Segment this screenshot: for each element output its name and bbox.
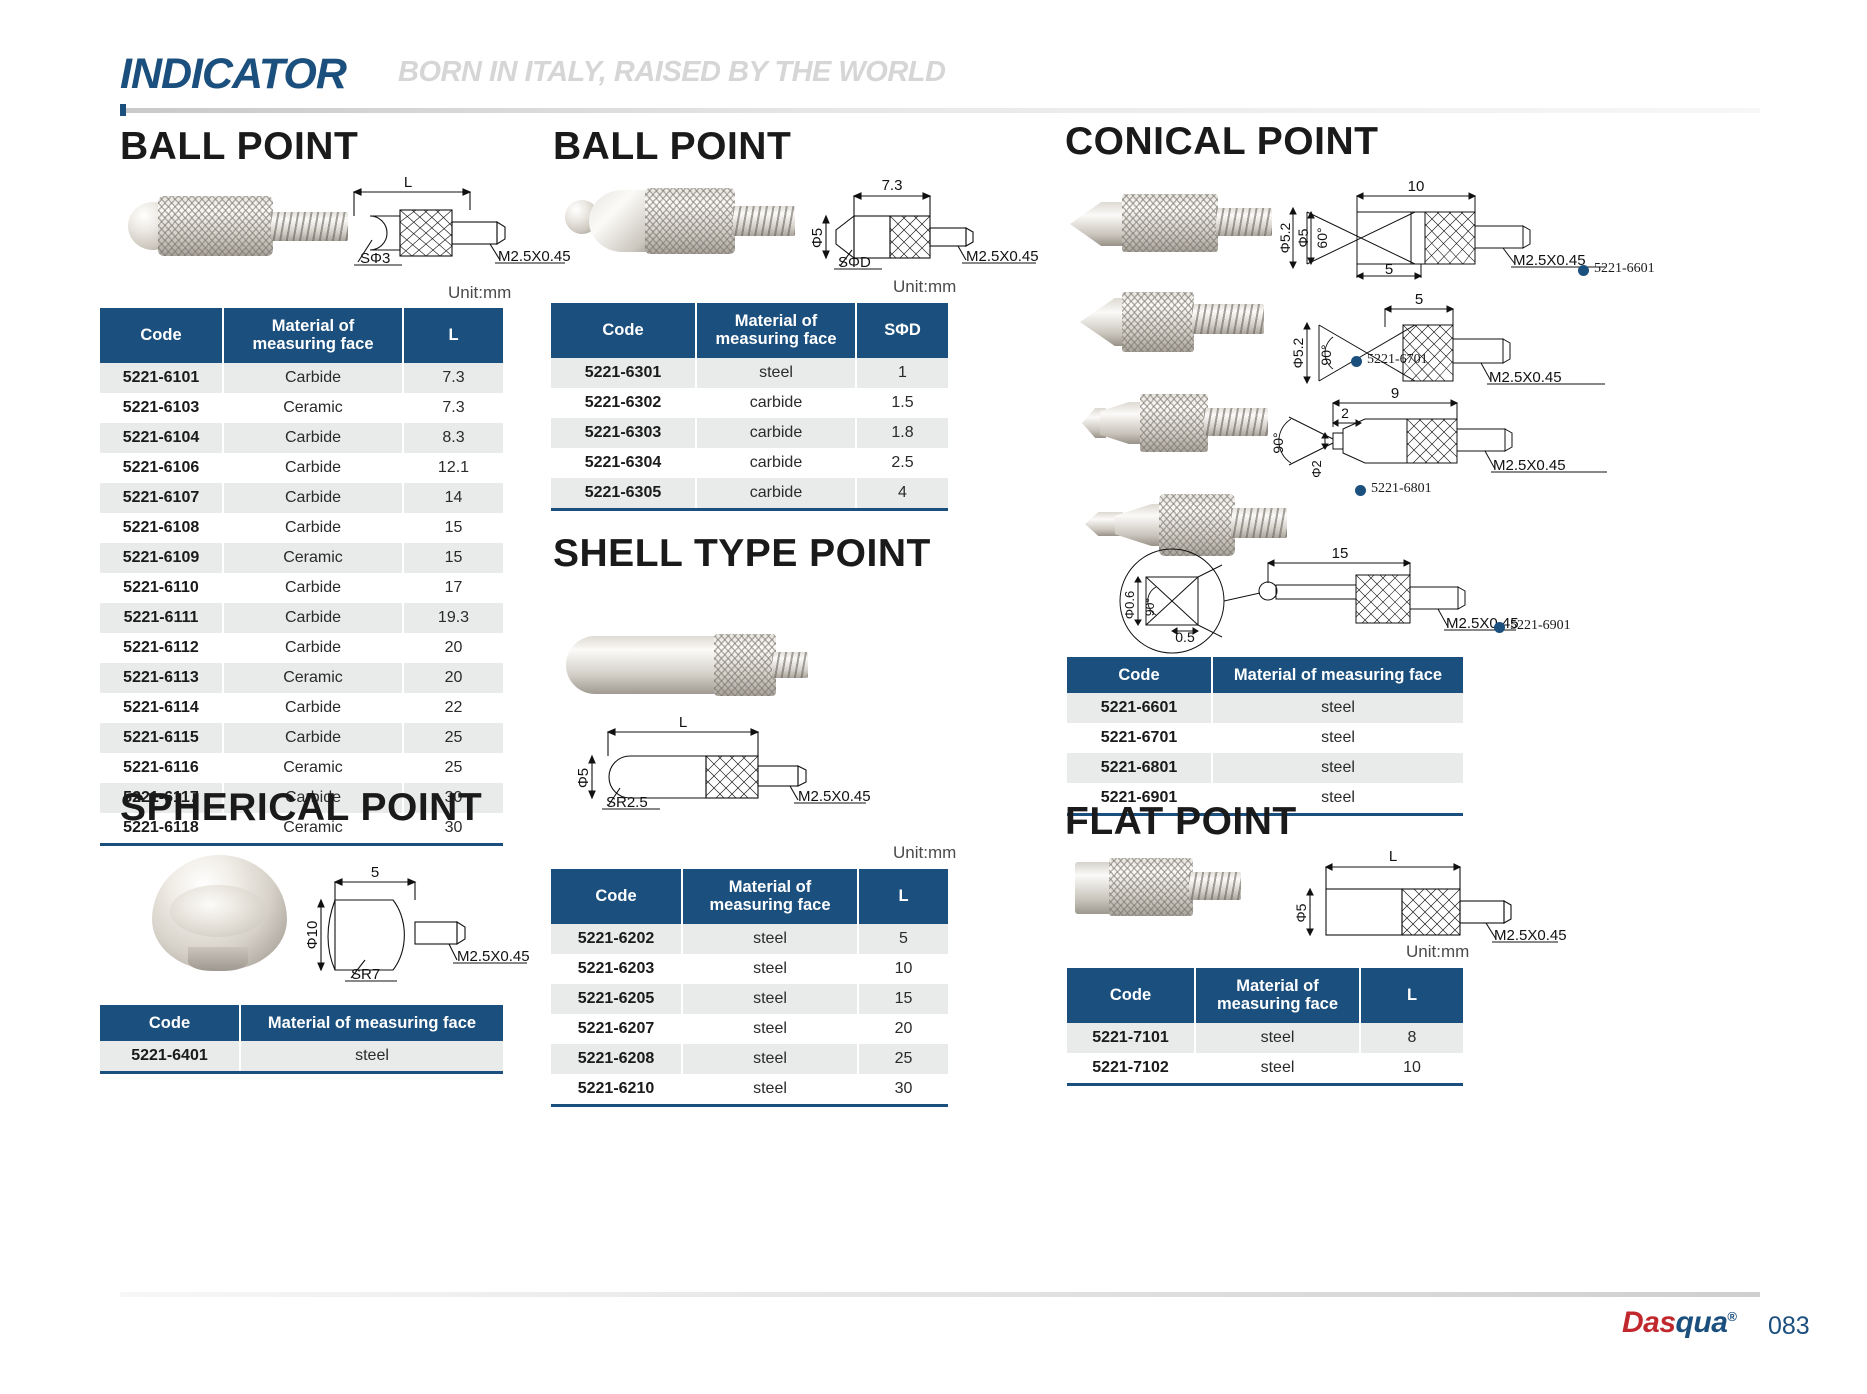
table-flat: Code Material ofmeasuring face L 5221-71… — [1067, 968, 1463, 1086]
code-marker-dot-6701 — [1351, 356, 1362, 367]
cell-material: Carbide — [223, 453, 403, 483]
cell-code: 5221-6207 — [551, 1014, 682, 1044]
drawing-thread-label: M2.5X0.45 — [1446, 615, 1519, 632]
cell-material: steel — [682, 954, 858, 984]
section-title-conical: CONICAL POINT — [1065, 120, 1378, 164]
header-divider — [120, 108, 1760, 113]
drawing-dim-top: 9 — [1391, 385, 1399, 402]
cell-material: steel — [682, 1044, 858, 1074]
technical-drawing-conical-4: 15 Φ0.6 90° 0.5 M2.5X0.45 — [1100, 545, 1520, 655]
table-row: 5221-7102steel10 — [1067, 1053, 1463, 1085]
cell-code: 5221-6301 — [551, 358, 696, 388]
table-body-flat: 5221-7101steel85221-7102steel10 — [1067, 1023, 1463, 1085]
product-photo-conical-1 — [1070, 190, 1270, 258]
col-header-sphere-dia: SΦD — [856, 303, 948, 358]
col-header-code: Code — [100, 308, 223, 363]
cell-material: steel — [240, 1041, 503, 1073]
cell-code: 5221-6115 — [100, 723, 223, 753]
cell-value: 4 — [856, 478, 948, 510]
cell-code: 5221-6106 — [100, 453, 223, 483]
table-row: 5221-6701steel — [1067, 723, 1463, 753]
cell-material: steel — [1212, 693, 1463, 723]
cell-material: Carbide — [223, 363, 403, 393]
col-header-material: Material of measuring face — [1212, 657, 1463, 693]
cell-material: carbide — [696, 388, 856, 418]
cell-code: 5221-6203 — [551, 954, 682, 984]
cell-code: 5221-6208 — [551, 1044, 682, 1074]
cell-material: steel — [682, 1074, 858, 1106]
product-photo-ball-point-2 — [565, 182, 790, 272]
table-row: 5221-6112Carbide20 — [100, 633, 503, 663]
code-marker-dot-6601 — [1578, 265, 1589, 276]
drawing-dim-top: 10 — [1408, 178, 1425, 195]
col-header-code: Code — [1067, 968, 1195, 1023]
product-photo-shell-type — [566, 632, 806, 700]
cell-value: 7.3 — [403, 363, 503, 393]
drawing-dim-top: 15 — [1332, 545, 1349, 562]
section-title-flat: FLAT POINT — [1065, 800, 1297, 844]
table-row: 5221-6304carbide2.5 — [551, 448, 948, 478]
drawing-angle: 90° — [1318, 344, 1334, 365]
col-header-material: Material of measuring face — [240, 1005, 503, 1041]
table-row: 5221-6203steel10 — [551, 954, 948, 984]
table-row: 5221-7101steel8 — [1067, 1023, 1463, 1053]
logo-text-das: Das — [1622, 1306, 1676, 1339]
drawing-dim-top: 5 — [1415, 291, 1423, 308]
drawing-detail-dia: Φ0.6 — [1122, 591, 1137, 619]
cell-code: 5221-6303 — [551, 418, 696, 448]
technical-drawing-spherical: 5 Φ10 SR7 M2.5X0.45 — [305, 860, 535, 990]
cell-value: 25 — [858, 1044, 948, 1074]
table-row: 5221-6401steel — [100, 1041, 503, 1073]
col-header-material: Material ofmeasuring face — [696, 303, 856, 358]
header-title: INDICATOR — [120, 50, 346, 99]
table-row: 5221-6107Carbide14 — [100, 483, 503, 513]
col-header-length: L — [1360, 968, 1463, 1023]
table-row: 5221-6302carbide1.5 — [551, 388, 948, 418]
table-row: 5221-6303carbide1.8 — [551, 418, 948, 448]
col-header-material: Material ofmeasuring face — [682, 869, 858, 924]
unit-label-ball-point-1: Unit:mm — [448, 283, 511, 303]
drawing-thread-label: M2.5X0.45 — [966, 248, 1039, 265]
table-body-shell-type: 5221-6202steel55221-6203steel105221-6205… — [551, 924, 948, 1106]
cell-code: 5221-6104 — [100, 423, 223, 453]
cell-value: 1 — [856, 358, 948, 388]
cell-code: 5221-6305 — [551, 478, 696, 510]
table-row: 5221-6207steel20 — [551, 1014, 948, 1044]
technical-drawing-ball-point-2: 7.3 Φ5 SΦD M2.5X0.45 — [812, 172, 1042, 282]
table-row: 5221-6305carbide4 — [551, 478, 948, 510]
cell-code: 5221-7101 — [1067, 1023, 1195, 1053]
page-number: 083 — [1768, 1312, 1810, 1341]
footer-divider — [120, 1292, 1760, 1297]
cell-code: 5221-6304 — [551, 448, 696, 478]
cell-value: 1.5 — [856, 388, 948, 418]
drawing-dim-L: L — [1389, 848, 1397, 865]
cell-value: 10 — [858, 954, 948, 984]
cell-material: Carbide — [223, 723, 403, 753]
table-shell-type: Code Material ofmeasuring face L 5221-62… — [551, 869, 948, 1107]
cell-material: steel — [696, 358, 856, 388]
cell-value: 12.1 — [403, 453, 503, 483]
table-row: 5221-6106Carbide12.1 — [100, 453, 503, 483]
section-title-spherical: SPHERICAL POINT — [120, 786, 482, 830]
cell-code: 5221-6101 — [100, 363, 223, 393]
cell-value: 7.3 — [403, 393, 503, 423]
cell-material: carbide — [696, 478, 856, 510]
drawing-thread-label: M2.5X0.45 — [498, 248, 571, 265]
cell-value: 22 — [403, 693, 503, 723]
drawing-code-6801: 5221-6801 — [1371, 481, 1432, 497]
table-row: 5221-6208steel25 — [551, 1044, 948, 1074]
drawing-dim-dia: Φ5 — [575, 768, 592, 788]
cell-material: Carbide — [223, 423, 403, 453]
table-row: 5221-6801steel — [1067, 753, 1463, 783]
technical-drawing-ball-point-1: L SΦ3 M2.5X0.45 — [340, 170, 590, 275]
technical-drawing-conical-3: 9 2 90° Φ2 M2.5X0.45 — [1285, 385, 1615, 495]
table-row: 5221-6101Carbide7.3 — [100, 363, 503, 393]
drawing-dia-outer: Φ5.2 — [1290, 337, 1306, 368]
unit-label-ball-point-2: Unit:mm — [893, 277, 956, 297]
logo-text-qua: qua — [1676, 1306, 1728, 1339]
cell-code: 5221-6108 — [100, 513, 223, 543]
cell-material: Ceramic — [223, 753, 403, 783]
drawing-dim-len: 5 — [371, 864, 379, 881]
cell-value: 8 — [1360, 1023, 1463, 1053]
header-divider-cap — [120, 104, 126, 116]
cell-value: 15 — [403, 513, 503, 543]
unit-label-flat: Unit:mm — [1406, 942, 1469, 962]
cell-code: 5221-6601 — [1067, 693, 1212, 723]
drawing-thread-label: M2.5X0.45 — [1494, 927, 1567, 944]
technical-drawing-shell-type: L Φ5 SR2.5 M2.5X0.45 — [568, 710, 868, 830]
drawing-dim-dia: Φ5 — [1293, 903, 1309, 922]
table-body-ball-point-1: 5221-6101Carbide7.35221-6103Ceramic7.352… — [100, 363, 503, 845]
unit-label-shell-type: Unit:mm — [893, 843, 956, 863]
drawing-angle: 60° — [1314, 227, 1330, 248]
cell-material: steel — [682, 924, 858, 954]
table-ball-point-2: Code Material ofmeasuring face SΦD 5221-… — [551, 303, 948, 511]
drawing-dim-radius: SR7 — [351, 966, 380, 983]
technical-drawing-conical-1: 10 Φ5.2 Φ5 60° 5 M2.5X0.45 — [1285, 178, 1615, 286]
table-row: 5221-6111Carbide19.3 — [100, 603, 503, 633]
cell-material: Carbide — [223, 633, 403, 663]
cell-value: 25 — [403, 753, 503, 783]
table-row: 5221-6103Ceramic7.3 — [100, 393, 503, 423]
cell-code: 5221-7102 — [1067, 1053, 1195, 1085]
section-title-ball-point-2: BALL POINT — [553, 125, 791, 169]
cell-value: 1.8 — [856, 418, 948, 448]
drawing-dim-L: L — [679, 714, 687, 731]
table-body-spherical: 5221-6401steel — [100, 1041, 503, 1073]
col-header-code: Code — [551, 869, 682, 924]
cell-value: 2.5 — [856, 448, 948, 478]
table-row: 5221-6115Carbide25 — [100, 723, 503, 753]
cell-code: 5221-6701 — [1067, 723, 1212, 753]
cell-value: 30 — [858, 1074, 948, 1106]
cell-value: 15 — [403, 543, 503, 573]
drawing-angle: 90° — [1270, 432, 1286, 453]
product-photo-conical-2 — [1080, 288, 1270, 356]
col-header-code: Code — [100, 1005, 240, 1041]
drawing-dim-bottom: 5 — [1385, 261, 1393, 278]
cell-code: 5221-6116 — [100, 753, 223, 783]
header-tagline: BORN IN ITALY, RAISED BY THE WORLD — [398, 56, 945, 89]
cell-code: 5221-6111 — [100, 603, 223, 633]
drawing-thread-label: M2.5X0.45 — [1489, 369, 1562, 386]
cell-value: 14 — [403, 483, 503, 513]
cell-value: 10 — [1360, 1053, 1463, 1085]
table-row: 5221-6113Ceramic20 — [100, 663, 503, 693]
cell-material: Ceramic — [223, 543, 403, 573]
cell-value: 25 — [403, 723, 503, 753]
page-header: INDICATOR INDICATOR BORN IN ITALY, RAISE… — [0, 0, 1867, 125]
table-spherical: Code Material of measuring face 5221-640… — [100, 1005, 503, 1074]
cell-material: steel — [1212, 723, 1463, 753]
drawing-dia-outer: Φ5.2 — [1277, 222, 1293, 253]
cell-material: Carbide — [223, 513, 403, 543]
product-photo-spherical — [152, 855, 287, 980]
cell-material: carbide — [696, 448, 856, 478]
cell-material: steel — [1212, 753, 1463, 783]
cell-material: Carbide — [223, 483, 403, 513]
logo-registered-mark: ® — [1727, 1309, 1736, 1324]
table-row: 5221-6114Carbide22 — [100, 693, 503, 723]
cell-code: 5221-6109 — [100, 543, 223, 573]
cell-value: 5 — [858, 924, 948, 954]
cell-code: 5221-6103 — [100, 393, 223, 423]
drawing-dim-sphere: SΦ3 — [360, 250, 390, 267]
col-header-code: Code — [551, 303, 696, 358]
cell-code: 5221-6801 — [1067, 753, 1212, 783]
drawing-thread-label: M2.5X0.45 — [1493, 457, 1566, 474]
product-photo-conical-3 — [1082, 390, 1272, 458]
cell-material: Ceramic — [223, 663, 403, 693]
cell-value: 17 — [403, 573, 503, 603]
drawing-dia-tip: Φ2 — [1309, 460, 1324, 478]
cell-material: Carbide — [223, 693, 403, 723]
drawing-code-6701: 5221-6701 — [1367, 352, 1428, 368]
code-marker-dot-6901 — [1494, 622, 1505, 633]
dasqua-logo: Dasqua® — [1622, 1306, 1736, 1340]
cell-material: steel — [1195, 1053, 1360, 1085]
drawing-dia-inner: Φ5 — [1295, 228, 1311, 247]
table-row: 5221-6301steel1 — [551, 358, 948, 388]
cell-material: Carbide — [223, 603, 403, 633]
table-body-conical: 5221-6601steel5221-6701steel5221-6801ste… — [1067, 693, 1463, 815]
drawing-dim-radius: SR2.5 — [606, 794, 648, 811]
table-row: 5221-6601steel — [1067, 693, 1463, 723]
table-row: 5221-6205steel15 — [551, 984, 948, 1014]
table-row: 5221-6202steel5 — [551, 924, 948, 954]
cell-code: 5221-6210 — [551, 1074, 682, 1106]
drawing-thread-label: M2.5X0.45 — [798, 788, 871, 805]
cell-material: Carbide — [223, 573, 403, 603]
drawing-dim-small: 2 — [1341, 405, 1349, 421]
cell-code: 5221-6205 — [551, 984, 682, 1014]
col-header-code: Code — [1067, 657, 1212, 693]
table-row: 5221-6108Carbide15 — [100, 513, 503, 543]
table-conical: Code Material of measuring face 5221-660… — [1067, 657, 1463, 816]
cell-code: 5221-6112 — [100, 633, 223, 663]
drawing-code-6601: 5221-6601 — [1594, 261, 1655, 277]
cell-material: steel — [682, 984, 858, 1014]
cell-material: steel — [682, 1014, 858, 1044]
drawing-detail-angle: 90° — [1143, 598, 1157, 616]
cell-value: 20 — [403, 633, 503, 663]
drawing-thread-label: M2.5X0.45 — [457, 948, 530, 965]
cell-code: 5221-6202 — [551, 924, 682, 954]
col-header-length: L — [858, 869, 948, 924]
cell-code: 5221-6401 — [100, 1041, 240, 1073]
table-ball-point-1: Code Material ofmeasuring face L 5221-61… — [100, 308, 503, 846]
cell-code: 5221-6110 — [100, 573, 223, 603]
col-header-material: Material ofmeasuring face — [223, 308, 403, 363]
drawing-dim-sphere: SΦD — [838, 254, 871, 271]
cell-material: carbide — [696, 418, 856, 448]
table-row: 5221-6104Carbide8.3 — [100, 423, 503, 453]
cell-code: 5221-6113 — [100, 663, 223, 693]
drawing-thread-label: M2.5X0.45 — [1513, 252, 1586, 269]
drawing-code-6901: 5221-6901 — [1510, 618, 1571, 634]
cell-material: steel — [1195, 1023, 1360, 1053]
cell-value: 20 — [403, 663, 503, 693]
cell-code: 5221-6107 — [100, 483, 223, 513]
table-row: 5221-6210steel30 — [551, 1074, 948, 1106]
section-title-ball-point-1: BALL POINT — [120, 125, 358, 169]
table-body-ball-point-2: 5221-6301steel15221-6302carbide1.55221-6… — [551, 358, 948, 510]
drawing-dim-dia: Φ10 — [304, 921, 321, 950]
cell-code: 5221-6302 — [551, 388, 696, 418]
table-row: 5221-6110Carbide17 — [100, 573, 503, 603]
section-title-shell-type: SHELL TYPE POINT — [553, 532, 931, 576]
cell-material: Ceramic — [223, 393, 403, 423]
cell-value: 19.3 — [403, 603, 503, 633]
drawing-dim-dia: Φ5 — [809, 228, 826, 248]
drawing-dim-L: L — [404, 174, 412, 191]
cell-code: 5221-6114 — [100, 693, 223, 723]
code-marker-dot-6801 — [1355, 485, 1366, 496]
cell-value: 20 — [858, 1014, 948, 1044]
cell-value: 15 — [858, 984, 948, 1014]
cell-value: 8.3 — [403, 423, 503, 453]
product-photo-flat — [1075, 856, 1240, 920]
table-row: 5221-6116Ceramic25 — [100, 753, 503, 783]
drawing-detail-dim: 0.5 — [1175, 629, 1195, 645]
product-photo-ball-point-1 — [128, 186, 343, 266]
col-header-material: Material ofmeasuring face — [1195, 968, 1360, 1023]
table-row: 5221-6109Ceramic15 — [100, 543, 503, 573]
drawing-dim-len: 7.3 — [882, 177, 903, 194]
col-header-length: L — [403, 308, 503, 363]
